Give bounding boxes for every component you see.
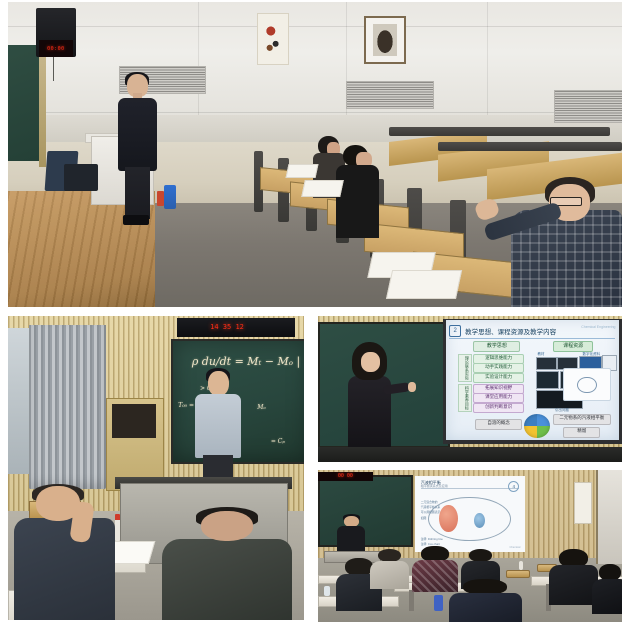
chalkboard-trim — [39, 45, 46, 167]
chalkboard-formula: ρ du/dt = Mₜ − Mₒ | — [192, 355, 300, 368]
slide-resource-label: 教材 — [538, 352, 545, 357]
slide-bottom-box: 精馏 — [563, 427, 600, 439]
photo-panel-slide-presentation: 2 教学思想、课程资源及教学内容 Chemical Engineering 教学… — [318, 316, 622, 462]
person-attendee — [592, 564, 622, 613]
person-attendee — [549, 549, 598, 604]
water-bottle — [434, 595, 443, 612]
whiteboard-ledge — [318, 447, 622, 462]
slide-thumbnail — [536, 371, 559, 390]
clock-bracket — [53, 57, 54, 81]
chalkboard-note: Mₒ — [257, 404, 265, 411]
slide-badge: 4 — [508, 481, 519, 492]
person-student-seated — [162, 511, 292, 620]
slide-item: 逻辑思维能力 — [473, 354, 524, 364]
doorway — [596, 470, 622, 564]
slide-note: 如图 — [421, 516, 427, 520]
framed-picture — [364, 16, 406, 64]
chalkboard — [8, 45, 42, 161]
slide-left-header: 教学思想 — [473, 341, 520, 353]
wall-poster — [574, 482, 591, 524]
led-clock-display: 14 35 12 — [183, 321, 272, 333]
led-clock-display: 00:00 — [39, 40, 73, 57]
chair — [64, 164, 98, 191]
slide-title: 教学思想、课程资源及教学内容 — [465, 326, 556, 336]
slide-note: 二元混合物的 — [421, 500, 438, 504]
person-attendee-foreground — [449, 579, 522, 622]
person-lecturer — [345, 342, 394, 453]
slide-item: 实验设计能力 — [473, 373, 524, 383]
slide-diagram-circle — [577, 377, 596, 393]
slide-group-b-label: 科学素养目标 — [458, 384, 472, 412]
chalkboard-note: = Cₚ — [271, 438, 285, 445]
slide-item: 创新判断意识 — [473, 403, 524, 413]
slide-footer: Chemical — [510, 546, 521, 549]
air-vent — [346, 81, 434, 109]
water-bottle — [324, 586, 330, 597]
photo-panel-lecture-hall: 00:00 — [8, 2, 622, 307]
slide-thumbnail — [536, 357, 557, 370]
slide-number: 2 — [449, 325, 461, 337]
slide-corner-label: Chemical Engineering — [581, 325, 615, 329]
slide-group-a-label: 理论联系实际 — [458, 354, 472, 382]
person-student-raising-hand — [14, 486, 115, 620]
person-standing-presenter — [115, 74, 160, 227]
slide-bottom-left-box: 自溶的概念 — [475, 419, 522, 431]
cabinet-recess — [112, 404, 156, 437]
slide-item: 动手实践能力 — [473, 363, 524, 373]
led-clock-display: 00 00 — [318, 472, 373, 481]
air-vent — [554, 90, 622, 123]
wall-upper — [8, 2, 622, 115]
slide-item: 课堂应用能力 — [473, 393, 524, 403]
person-attendee — [370, 549, 410, 589]
person-foreground-speaker — [487, 173, 622, 307]
water-bottle — [115, 514, 121, 541]
photo-panel-seminar-room: 00 00 汽液相平衡 相平衡关系式及应用 4 二元混合物的 汽液相平衡关系 可… — [318, 470, 622, 622]
calligraphy-scroll — [257, 13, 290, 65]
stool — [506, 570, 529, 578]
photo-collage: 00:00 — [0, 0, 630, 630]
water-bottle — [164, 185, 176, 209]
curtain — [29, 325, 106, 489]
slide-liquid-phase-circle — [439, 505, 458, 532]
slide-item: 拓展知识视野 — [473, 384, 524, 394]
projection-screen-frame: 汽液相平衡 相平衡关系式及应用 4 二元混合物的 汽液相平衡关系 可以用相图表示… — [415, 476, 524, 552]
slide-note: 注释: Dühring line — [421, 537, 443, 541]
photo-panel-mechanics-classroom: 14 35 12 ρ du/dt = Mₜ − Mₒ | > 0 T₀₀ = 0… — [8, 316, 304, 620]
projection-screen: 汽液相平衡 相平衡关系式及应用 4 二元混合物的 汽液相平衡关系 可以用相图表示… — [415, 476, 524, 552]
person-seated-observer — [336, 145, 379, 237]
slide-note: 汽液相平衡关系 — [421, 505, 441, 509]
water-bottle — [519, 561, 524, 570]
slide-bottom-box: 二元物系的汽液相平衡 — [553, 414, 610, 426]
slide-note: 可以用相图表示 — [421, 510, 441, 514]
slide-globe-icon — [524, 414, 550, 438]
slide-flow-label: 引出问题 — [555, 408, 569, 413]
projection-screen: 2 教学思想、课程资源及教学内容 Chemical Engineering 教学… — [446, 320, 619, 440]
